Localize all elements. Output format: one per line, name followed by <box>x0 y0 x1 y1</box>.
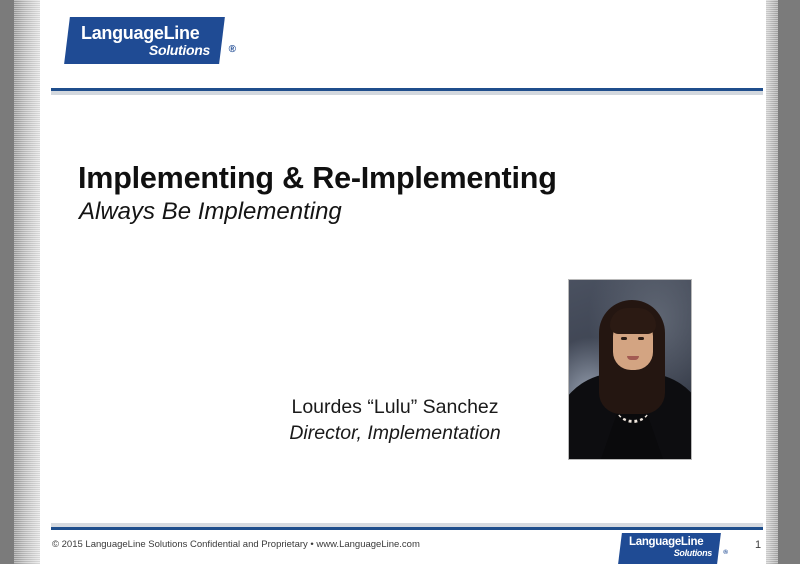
header-divider-shadow <box>51 91 763 95</box>
slide-subtitle: Always Be Implementing <box>79 198 342 226</box>
photo-hair-fringe <box>610 308 656 334</box>
slide-page: LanguageLine Solutions ® Implementing & … <box>40 0 766 564</box>
footer-divider-rule <box>51 527 763 530</box>
logo-wordmark-primary: LanguageLine <box>629 536 703 548</box>
registered-trademark-icon: ® <box>723 549 728 556</box>
viewer-right-gutter <box>778 0 800 564</box>
document-viewer: LanguageLine Solutions ® Implementing & … <box>0 0 800 564</box>
presenter-headshot-photo <box>568 279 692 460</box>
photo-eye-right <box>638 337 644 340</box>
viewer-left-gutter <box>0 0 14 564</box>
presenter-name: Lourdes “Lulu” Sanchez <box>250 396 540 419</box>
footer-copyright-note: © 2015 LanguageLine Solutions Confidenti… <box>52 539 420 550</box>
logo-wordmark-secondary: Solutions <box>674 548 712 558</box>
logo-wordmark-secondary: Solutions <box>149 42 210 58</box>
logo-wordmark-primary: LanguageLine <box>81 23 199 44</box>
slide-title: Implementing & Re-Implementing <box>78 161 557 196</box>
languageline-logo-footer: LanguageLine Solutions ® <box>620 533 719 564</box>
registered-trademark-icon: ® <box>229 44 236 55</box>
photo-eye-left <box>621 337 627 340</box>
presenter-role: Director, Implementation <box>250 422 540 445</box>
page-number: 1 <box>750 539 766 551</box>
languageline-logo-header: LanguageLine Solutions ® <box>67 17 222 64</box>
